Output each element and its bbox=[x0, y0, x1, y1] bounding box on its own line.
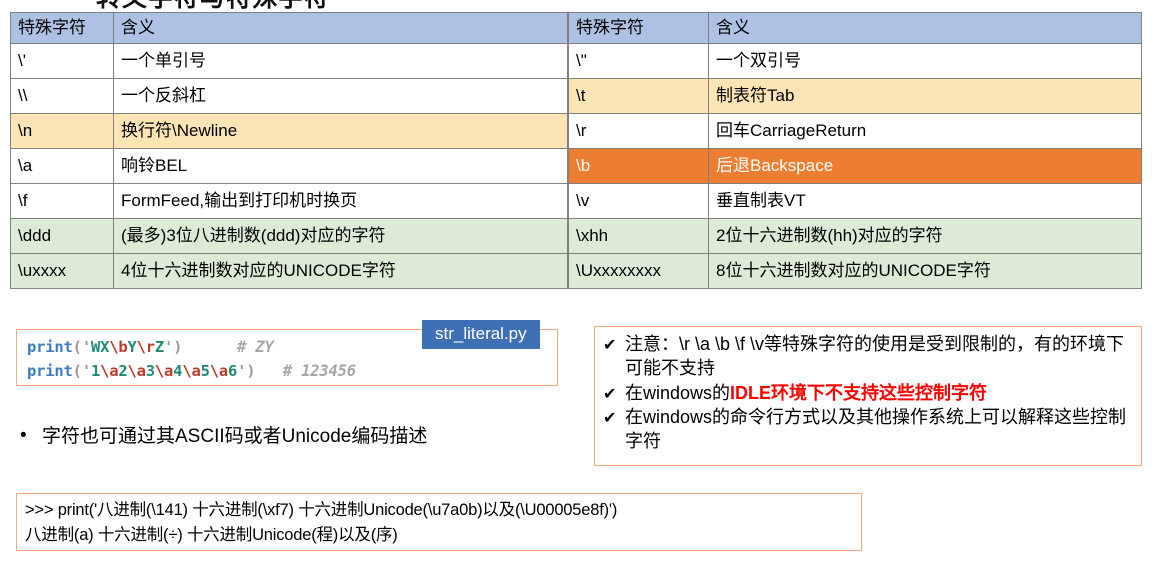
table-row: \uxxxx 4位十六进制数对应的UNICODE字符 bbox=[11, 254, 568, 289]
cell-meaning: 响铃BEL bbox=[114, 149, 568, 184]
cell-meaning: 换行符\Newline bbox=[114, 114, 568, 149]
escape-table-right: 特殊字符 含义 \" 一个双引号 \t 制表符Tab \r 回车Carriage… bbox=[568, 12, 1142, 289]
cell-meaning: 回车CarriageReturn bbox=[709, 114, 1142, 149]
table-body-left: \' 一个单引号 \\ 一个反斜杠 \n 换行符\Newline \a 响铃BE… bbox=[11, 44, 568, 289]
code-token-quote-open: ' bbox=[82, 338, 91, 356]
code-line-2: print('1\a2\a3\a4\a5\a6') # 123456 bbox=[27, 359, 547, 383]
check-icon: ✔ bbox=[603, 333, 625, 356]
code-token-escape-r: \r bbox=[137, 338, 155, 356]
note-item: ✔ 在windows的IDLE环境下不支持这些控制字符 bbox=[603, 382, 1133, 406]
table-row: \b 后退Backspace bbox=[569, 149, 1142, 184]
cell-code: \r bbox=[569, 114, 709, 149]
table-header-row: 特殊字符 含义 bbox=[11, 13, 568, 44]
table-row: \" 一个双引号 bbox=[569, 44, 1142, 79]
table-row: \Uxxxxxxxx 8位十六进制数对应的UNICODE字符 bbox=[569, 254, 1142, 289]
notes-box: ✔ 注意：\r \a \b \f \v等特殊字符的使用是受到限制的，有的环境下可… bbox=[594, 326, 1142, 466]
table-row: \xhh 2位十六进制数(hh)对应的字符 bbox=[569, 219, 1142, 254]
cell-meaning: 4位十六进制数对应的UNICODE字符 bbox=[114, 254, 568, 289]
cell-meaning: 垂直制表VT bbox=[709, 184, 1142, 219]
code-token-string-c: Z bbox=[155, 338, 164, 356]
cell-meaning: 制表符Tab bbox=[709, 79, 1142, 114]
code-token-open-paren: ( bbox=[73, 338, 82, 356]
page-title: 转义字符与特殊字符 bbox=[96, 0, 330, 12]
table-header-row: 特殊字符 含义 bbox=[569, 13, 1142, 44]
table-row: \v 垂直制表VT bbox=[569, 184, 1142, 219]
repl-input-line: >>> print('八进制(\141) 十六进制(\xf7) 十六进制Unic… bbox=[25, 498, 853, 523]
cell-code: \ddd bbox=[11, 219, 114, 254]
slide-title-strip: 转义字符与特殊字符 bbox=[0, 0, 1152, 12]
code-token-quote-close: ' bbox=[237, 362, 246, 380]
code-token-string-body: 1\a2\a3\a4\a5\a6 bbox=[91, 362, 237, 380]
note-item: ✔ 在windows的命令行方式以及其他操作系统上可以解释这些控制字符 bbox=[603, 406, 1133, 454]
header-cell-meaning: 含义 bbox=[709, 13, 1142, 44]
note-item: ✔ 注意：\r \a \b \f \v等特殊字符的使用是受到限制的，有的环境下可… bbox=[603, 333, 1133, 381]
cell-meaning: FormFeed,输出到打印机时换页 bbox=[114, 184, 568, 219]
table-row: \ddd (最多)3位八进制数(ddd)对应的字符 bbox=[11, 219, 568, 254]
escape-table-left: 特殊字符 含义 \' 一个单引号 \\ 一个反斜杠 \n 换行符\Newline… bbox=[10, 12, 568, 289]
cell-meaning: (最多)3位八进制数(ddd)对应的字符 bbox=[114, 219, 568, 254]
header-cell-code: 特殊字符 bbox=[569, 13, 709, 44]
cell-code: \" bbox=[569, 44, 709, 79]
cell-code: \b bbox=[569, 149, 709, 184]
table-row: \r 回车CarriageReturn bbox=[569, 114, 1142, 149]
note-text-plain: 在windows的 bbox=[625, 383, 730, 403]
code-token-open-paren: ( bbox=[73, 362, 82, 380]
cell-code: \Uxxxxxxxx bbox=[569, 254, 709, 289]
header-cell-meaning: 含义 bbox=[114, 13, 568, 44]
ascii-bullet: • 字符也可通过其ASCII码或者Unicode编码描述 bbox=[20, 425, 560, 449]
cell-meaning: 8位十六进制数对应的UNICODE字符 bbox=[709, 254, 1142, 289]
cell-code: \a bbox=[11, 149, 114, 184]
cell-code: \f bbox=[11, 184, 114, 219]
cell-code: \\ bbox=[11, 79, 114, 114]
cell-code: \v bbox=[569, 184, 709, 219]
code-token-quote-open: ' bbox=[82, 362, 91, 380]
table-row: \' 一个单引号 bbox=[11, 44, 568, 79]
table-row: \t 制表符Tab bbox=[569, 79, 1142, 114]
code-token-function: print bbox=[27, 362, 73, 380]
code-token-string-b: Y bbox=[127, 338, 136, 356]
repl-output-line: 八进制(a) 十六进制(÷) 十六进制Unicode(程)以及(序) bbox=[25, 523, 853, 548]
code-token-escape-b: \b bbox=[109, 338, 127, 356]
code-token-close-paren: ) bbox=[173, 338, 182, 356]
table-row: \\ 一个反斜杠 bbox=[11, 79, 568, 114]
table-row: \f FormFeed,输出到打印机时换页 bbox=[11, 184, 568, 219]
cell-meaning: 一个单引号 bbox=[114, 44, 568, 79]
cell-code: \xhh bbox=[569, 219, 709, 254]
header-cell-code: 特殊字符 bbox=[11, 13, 114, 44]
cell-meaning: 一个反斜杠 bbox=[114, 79, 568, 114]
table-body-right: \" 一个双引号 \t 制表符Tab \r 回车CarriageReturn \… bbox=[569, 44, 1142, 289]
note-text: 在windows的IDLE环境下不支持这些控制字符 bbox=[625, 382, 1133, 406]
code-comment-1: # ZY bbox=[182, 338, 273, 356]
code-token-function: print bbox=[27, 338, 73, 356]
cell-meaning: 一个双引号 bbox=[709, 44, 1142, 79]
note-text-highlight: IDLE环境下不支持这些控制字符 bbox=[730, 383, 987, 403]
ascii-bullet-text: 字符也可通过其ASCII码或者Unicode编码描述 bbox=[42, 425, 427, 449]
repl-output-box: >>> print('八进制(\141) 十六进制(\xf7) 十六进制Unic… bbox=[16, 493, 862, 551]
code-token-string-a: WX bbox=[91, 338, 109, 356]
cell-code: \t bbox=[569, 79, 709, 114]
check-icon: ✔ bbox=[603, 406, 625, 429]
cell-code: \uxxxx bbox=[11, 254, 114, 289]
code-token-quote-close: ' bbox=[164, 338, 173, 356]
cell-meaning: 后退Backspace bbox=[709, 149, 1142, 184]
table-row: \n 换行符\Newline bbox=[11, 114, 568, 149]
check-icon: ✔ bbox=[603, 382, 625, 405]
cell-code: \' bbox=[11, 44, 114, 79]
note-text: 注意：\r \a \b \f \v等特殊字符的使用是受到限制的，有的环境下可能不… bbox=[625, 333, 1133, 381]
table-row: \a 响铃BEL bbox=[11, 149, 568, 184]
file-name-badge: str_literal.py bbox=[422, 320, 540, 349]
code-comment-2: # 123456 bbox=[255, 362, 355, 380]
note-text: 在windows的命令行方式以及其他操作系统上可以解释这些控制字符 bbox=[625, 406, 1133, 454]
bullet-dot-icon: • bbox=[20, 425, 42, 448]
cell-code: \n bbox=[11, 114, 114, 149]
cell-meaning: 2位十六进制数(hh)对应的字符 bbox=[709, 219, 1142, 254]
